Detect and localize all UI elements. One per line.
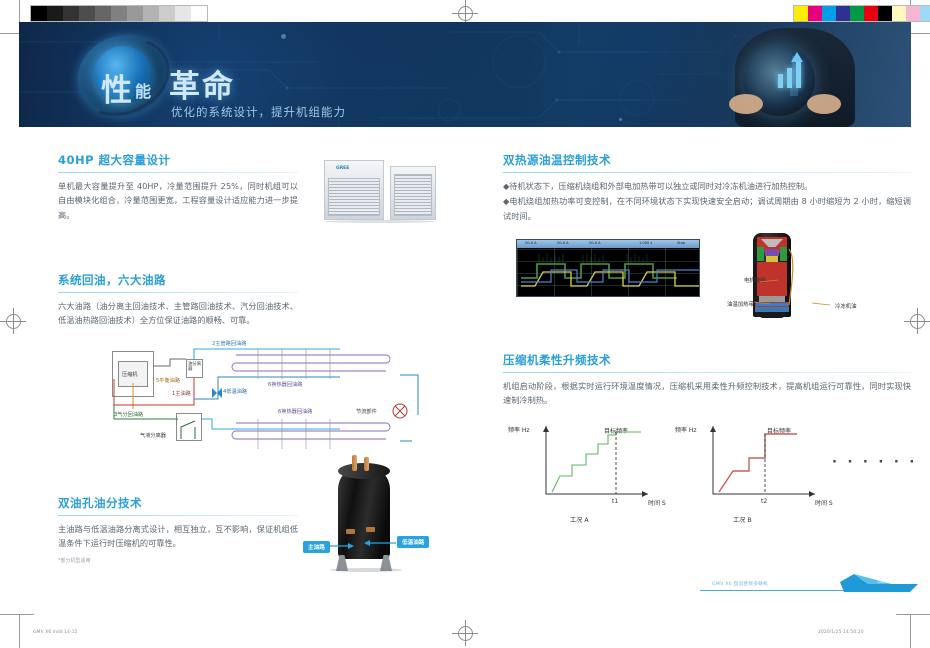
color-swatch xyxy=(63,6,79,21)
section-dual-heat-title: 双热源油温控制技术 xyxy=(503,152,911,172)
color-swatch xyxy=(822,6,836,21)
tag-leader-lines xyxy=(330,538,406,558)
section-capacity-rule xyxy=(58,172,298,173)
section-dual-oil-hole-title: 双油孔油分技术 xyxy=(58,495,298,515)
diagram-label-2: 2主管路回油路 xyxy=(212,340,246,347)
color-swatch xyxy=(850,6,864,21)
registration-mark-right xyxy=(904,308,930,334)
section-flex-freq-rule xyxy=(503,372,911,373)
crop-mark-bottom-left-v xyxy=(19,614,20,648)
chart-flex-frequency-a: 频率 Hz 时间 S 目标频率 t1 工况 A xyxy=(508,418,688,528)
scope-ch3-label: 20.0 A xyxy=(589,241,601,245)
section-flex-freq-title: 压缩机柔性升频技术 xyxy=(503,352,911,372)
crop-mark-bottom-left-h xyxy=(0,614,34,615)
brochure-page: 性 能 革命 优化的系统设计，提升机组能力 40HP 超大容量设计 单机最大容量… xyxy=(0,0,930,648)
color-swatch xyxy=(906,6,920,21)
hero-arrow-icon xyxy=(791,52,803,62)
chart-a-plot xyxy=(508,418,688,510)
scope-status-label: Stop xyxy=(677,241,685,245)
oil-circuit-diagram: 压缩机 油分离器 气液分离器 xyxy=(100,333,430,458)
tag-main-oil-path: 主油路 xyxy=(303,541,330,553)
separator-pipe xyxy=(364,457,369,471)
hero-hand xyxy=(729,94,763,114)
footer-product-name: GMV X6 直流变频多联机 xyxy=(712,581,768,587)
hero-chart-bar xyxy=(796,62,801,88)
hero-dot xyxy=(619,118,622,121)
chart-b-plot xyxy=(675,418,855,510)
chart-flex-frequency-b: 频率 Hz 时间 S 目标频率 t2 工况 B xyxy=(675,418,855,528)
footer-page-number: 05/06 xyxy=(878,580,891,585)
crop-mark-bottom-right-v xyxy=(910,614,911,648)
color-swatch xyxy=(864,6,878,21)
diagram-label-6-upper: 6换热器回油路 xyxy=(268,381,302,388)
chart-a-case-label: 工况 A xyxy=(570,515,589,524)
diagram-label-3: 3气分回油路 xyxy=(114,411,143,418)
unit-grille-secondary xyxy=(394,174,432,216)
section-oil-return-body: 六大油路（油分离主回油技术、主管路回油技术、汽分回油技术、低温油热路回油技术）全… xyxy=(58,299,298,328)
diagram-label-4: 4低温油路 xyxy=(223,388,247,395)
section-dual-heat-bullet-1: ◆待机状态下，压缩机绕组和外部电加热带可以独立或同时对冷冻机油进行加热控制。 xyxy=(503,179,911,193)
scope-top-bar xyxy=(517,240,699,248)
section-dual-heat: 双热源油温控制技术 ◆待机状态下，压缩机绕组和外部电加热带可以独立或同时对冷冻机… xyxy=(503,152,911,223)
section-dual-oil-hole-footnote: *部分机型适用 xyxy=(58,557,298,564)
color-swatch xyxy=(892,6,906,21)
diagram-label-throttle: 节流部件 xyxy=(356,408,377,415)
outdoor-unit-photo: GREE xyxy=(322,152,450,224)
section-dual-heat-bullet-2: ◆电机绕组加热功率可变控制，在不同环境状态下实现快速安全启动；调试周期由 8 小… xyxy=(503,194,911,223)
scope-ch1-label: 20.0 A xyxy=(525,241,537,245)
crop-mark-bottom-right-h xyxy=(896,614,930,615)
color-swatch xyxy=(47,6,63,21)
section-dual-oil-hole-body: 主油路与低温油路分离式设计，相互独立，互不影响，保证机组低温条件下运行时压缩机的… xyxy=(58,522,298,551)
color-swatch xyxy=(191,6,207,21)
color-swatch xyxy=(127,6,143,21)
oscilloscope-screenshot: 20.0 A 20.0 A 20.0 A 1.000 s Stop xyxy=(516,239,700,297)
section-dual-heat-rule xyxy=(503,172,911,173)
scope-waveforms xyxy=(517,248,700,297)
grayscale-color-bar xyxy=(30,5,208,22)
unit-shadow xyxy=(324,220,436,223)
cmyk-color-bar xyxy=(793,5,930,22)
diagram-label-5: 5平衡油路 xyxy=(156,377,180,384)
hero-chart-bar xyxy=(787,68,792,88)
scope-ch2-label: 20.0 A xyxy=(557,241,569,245)
color-swatch xyxy=(920,6,930,21)
chart-b-case-label: 工况 B xyxy=(733,515,752,524)
diagram-label-1: 1主油路 xyxy=(172,390,191,397)
hero-subtitle: 优化的系统设计，提升机组能力 xyxy=(171,104,346,120)
section-dual-oil-hole: 双油孔油分技术 主油路与低温油路分离式设计，相互独立，互不影响，保证机组低温条件… xyxy=(58,495,298,564)
hero-banner: 性 能 革命 优化的系统设计，提升机组能力 xyxy=(19,22,911,127)
hero-title-char-2: 能 xyxy=(135,78,151,102)
compressor-foot xyxy=(759,312,785,318)
separator-pipe xyxy=(352,455,357,471)
color-swatch xyxy=(175,6,191,21)
registration-mark-left xyxy=(0,308,26,334)
doc-filename: GMV X6.indd 14-15 xyxy=(33,630,77,635)
section-flex-freq: 压缩机柔性升频技术 机组启动阶段，根据实时运行环境温度情况，压缩机采用柔性升频控… xyxy=(503,352,911,408)
section-oil-return-title: 系统回油，六大油路 xyxy=(58,272,298,292)
section-dual-oil-hole-rule xyxy=(58,515,298,516)
compressor-coil-green xyxy=(757,247,764,261)
registration-mark-bottom xyxy=(452,620,478,646)
diagram-label-6-lower: 6换热器回油路 xyxy=(278,408,312,415)
separator-port-low xyxy=(366,527,375,532)
color-swatch xyxy=(159,6,175,21)
color-swatch xyxy=(79,6,95,21)
section-flex-freq-body: 机组启动阶段，根据实时运行环境温度情况，压缩机采用柔性升频控制技术，提高机组运行… xyxy=(503,379,911,408)
color-swatch xyxy=(95,6,111,21)
separator-port-main xyxy=(346,529,355,534)
compressor-leader-lines xyxy=(720,272,850,312)
doc-timestamp: 2020/1/25 14:50:20 xyxy=(818,630,864,635)
color-swatch xyxy=(878,6,892,21)
section-capacity: 40HP 超大容量设计 单机最大容量提升至 40HP，冷量范围提升 25%，同时… xyxy=(58,152,298,222)
hero-chart-bar xyxy=(778,74,783,88)
color-swatch xyxy=(794,6,808,21)
hero-title-char-1: 性 xyxy=(101,65,134,110)
unit-brand-logo: GREE xyxy=(336,166,349,171)
unit-grille xyxy=(328,178,380,216)
section-oil-return: 系统回油，六大油路 六大油路（油分离主回油技术、主管路回油技术、汽分回油技术、低… xyxy=(58,272,298,328)
section-capacity-body: 单机最大容量提升至 40HP，冷量范围提升 25%，同时机组可以自由模块化组合，… xyxy=(58,179,298,222)
section-oil-return-rule xyxy=(58,292,298,293)
hero-person-photo xyxy=(641,22,911,127)
hero-hand xyxy=(807,94,841,114)
color-swatch xyxy=(31,6,47,21)
color-swatch xyxy=(836,6,850,21)
compressor-rotor xyxy=(765,249,779,256)
separator-shadow xyxy=(330,568,402,572)
diagram-pipes xyxy=(100,333,430,458)
chart-ellipsis: · · · · · · xyxy=(832,455,917,470)
scope-timebase-label: 1.000 s xyxy=(639,241,652,245)
hero-dot xyxy=(281,34,286,39)
color-swatch xyxy=(111,6,127,21)
color-swatch xyxy=(808,6,822,21)
hero-title-main: 革命 xyxy=(169,61,235,106)
footer-rule xyxy=(700,590,860,591)
color-swatch xyxy=(143,6,159,21)
section-capacity-title: 40HP 超大容量设计 xyxy=(58,152,298,172)
